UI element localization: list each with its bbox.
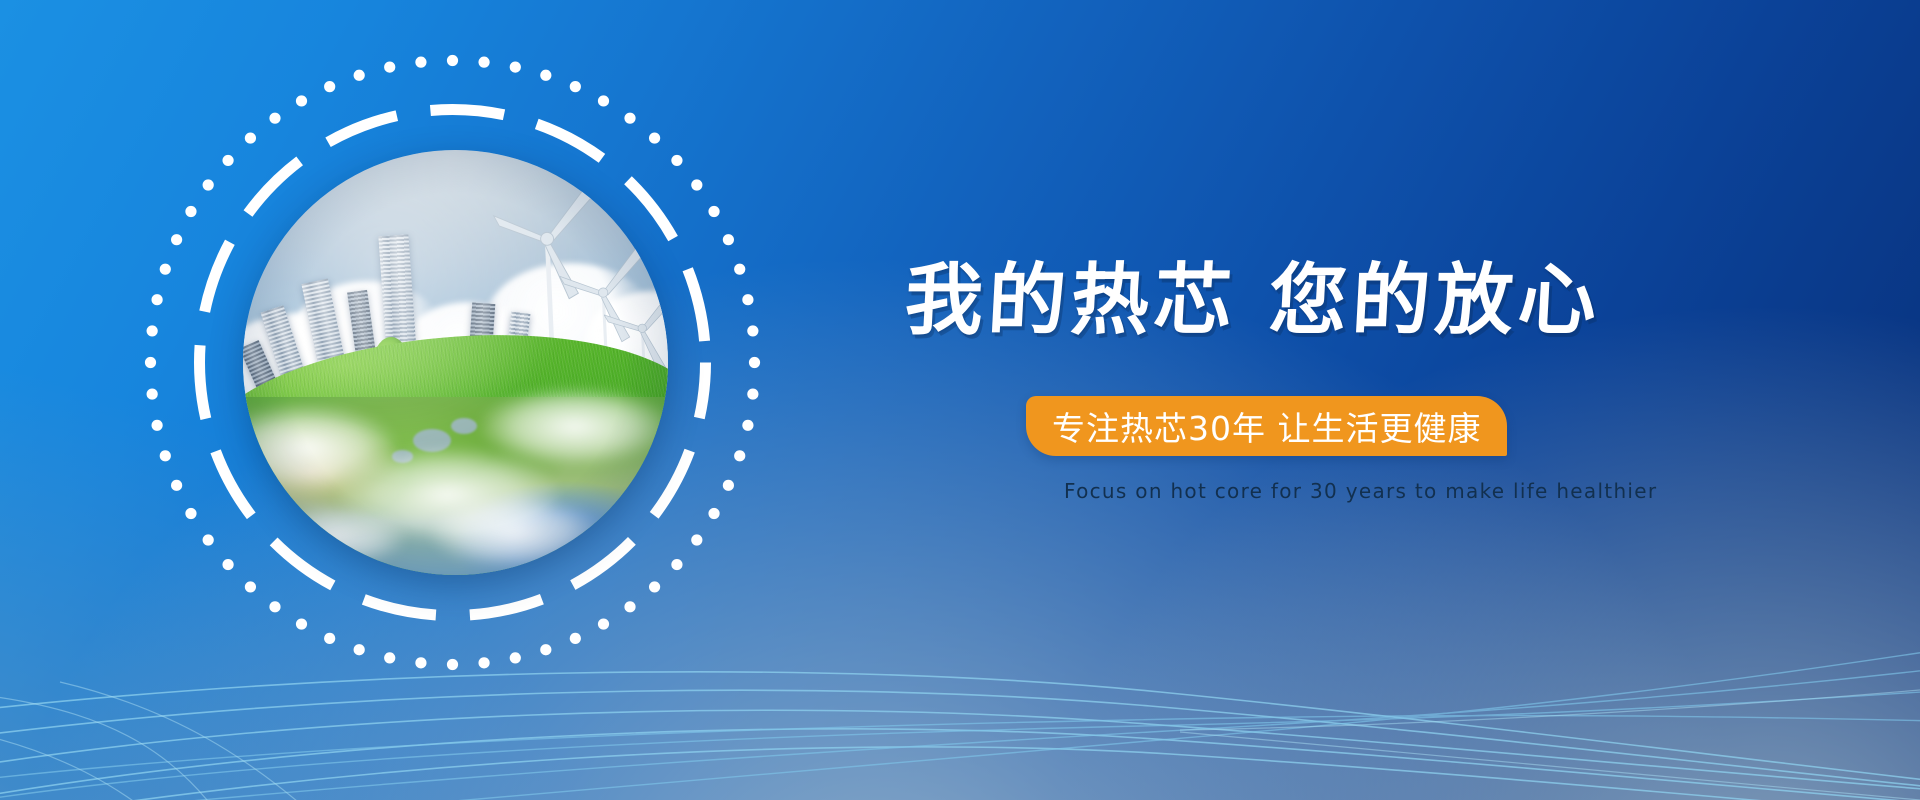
globe-emblem — [115, 25, 790, 700]
english-subtitle: Focus on hot core for 30 years to make l… — [1064, 479, 1657, 503]
globe-cloud — [260, 507, 405, 567]
page-title: 我的热芯 您的放心 — [903, 262, 1603, 340]
globe-cloud — [481, 388, 668, 465]
earth-globe-image — [243, 150, 668, 575]
globe-cloud — [430, 499, 600, 567]
hero-banner: 我的热芯 您的放心 专注热芯30年 让生活更健康 Focus on hot co… — [0, 0, 1920, 800]
tagline-badge: 专注热芯30年 让生活更健康 — [1026, 396, 1507, 456]
tagline-badge-label: 专注热芯30年 让生活更健康 — [1052, 402, 1481, 450]
